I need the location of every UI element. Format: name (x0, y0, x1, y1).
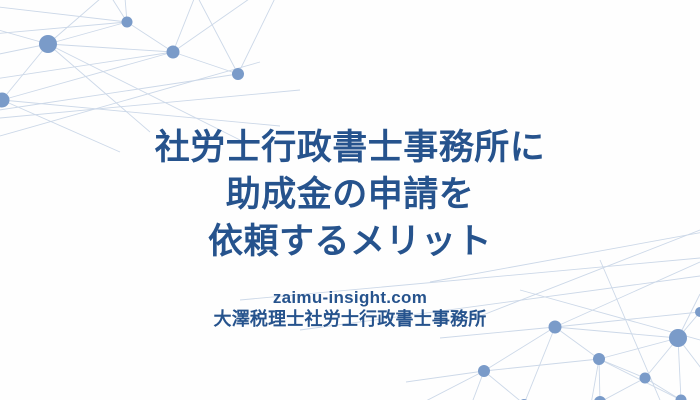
office-name-text: 大澤税理士社労士行政書士事務所 (214, 308, 487, 331)
banner-footer: zaimu-insight.com 大澤税理士社労士行政書士事務所 (0, 287, 700, 331)
title-line-2: 助成金の申請を (226, 171, 475, 218)
banner-image: 社労士行政書士事務所に 助成金の申請を 依頼するメリット zaimu-insig… (0, 0, 700, 400)
title-line-3: 依頼するメリット (208, 218, 492, 265)
title-line-1: 社労士行政書士事務所に (155, 124, 546, 171)
page-title: 社労士行政書士事務所に 助成金の申請を 依頼するメリット (0, 124, 700, 265)
banner-content: 社労士行政書士事務所に 助成金の申請を 依頼するメリット zaimu-insig… (0, 0, 700, 400)
site-url-text: zaimu-insight.com (273, 287, 427, 308)
